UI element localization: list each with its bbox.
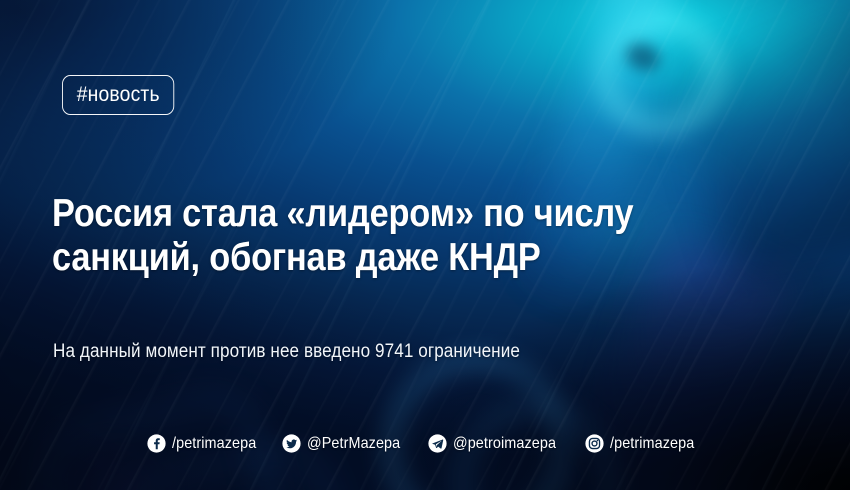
facebook-icon bbox=[147, 434, 166, 453]
social-link-twitter[interactable]: @PetrMazepa bbox=[282, 434, 411, 453]
news-card: #новость Россия стала «лидером» по числу… bbox=[0, 0, 850, 490]
social-handle-telegram: @petroimazepa bbox=[453, 435, 556, 453]
category-badge-label: #новость bbox=[77, 83, 160, 107]
subtitle: На данный момент против нее введено 9741… bbox=[53, 341, 520, 363]
instagram-icon bbox=[585, 434, 604, 453]
social-link-instagram[interactable]: /petrimazepa bbox=[585, 434, 704, 453]
social-link-telegram[interactable]: @petroimazepa bbox=[428, 434, 568, 453]
social-link-facebook[interactable]: /petrimazepa bbox=[147, 434, 266, 453]
social-handle-facebook: /petrimazepa bbox=[172, 435, 256, 453]
social-handle-instagram: /petrimazepa bbox=[610, 435, 694, 453]
social-links-row: /petrimazepa @PetrMazepa @petroimazepa bbox=[0, 434, 850, 453]
card-content: #новость Россия стала «лидером» по числу… bbox=[0, 0, 850, 490]
telegram-icon bbox=[428, 434, 447, 453]
twitter-icon bbox=[282, 434, 301, 453]
social-handle-twitter: @PetrMazepa bbox=[307, 435, 400, 453]
category-badge[interactable]: #новость bbox=[62, 75, 174, 115]
headline: Россия стала «лидером» по числу санкций,… bbox=[52, 192, 659, 279]
